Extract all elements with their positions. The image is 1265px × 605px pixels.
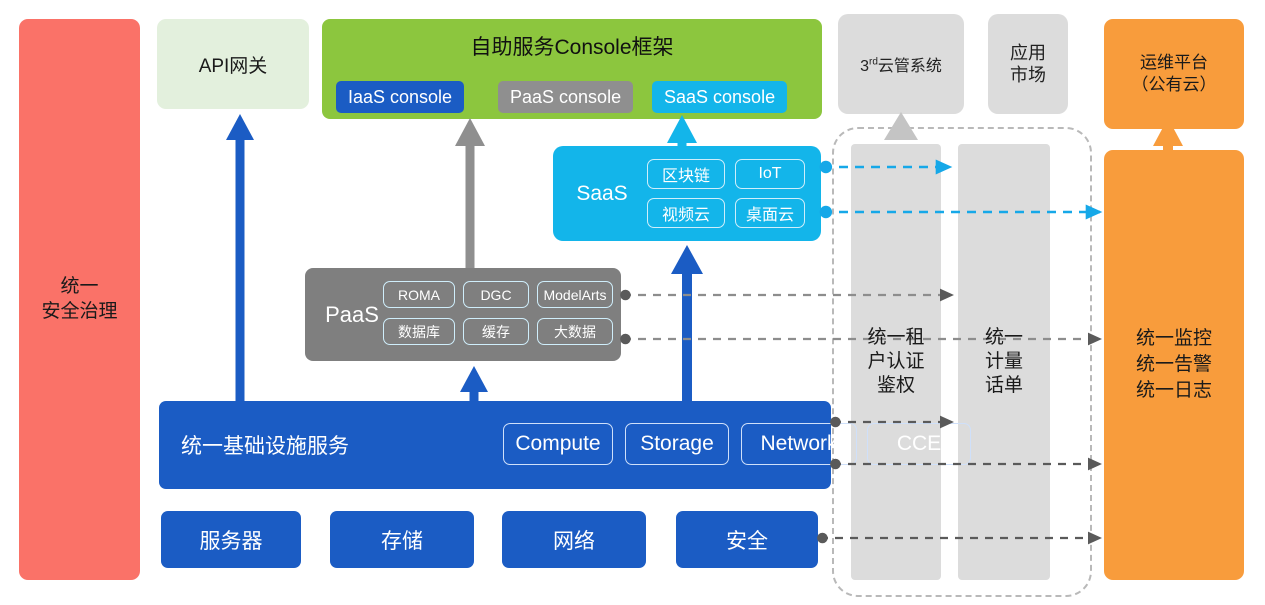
arrow-infra-to-paas	[460, 366, 488, 401]
hardware-box-storage[interactable]: 存储	[330, 511, 474, 568]
infra-item-storage[interactable]: Storage	[625, 423, 729, 465]
saas-block: SaaS 区块链 IoT 视频云 桌面云	[553, 146, 821, 241]
architecture-diagram: 统一 安全治理 API网关 自助服务Console框架 IaaS console…	[0, 0, 1265, 605]
third-party-prefix: 3	[860, 58, 869, 75]
paas-item-cache[interactable]: 缓存	[463, 318, 529, 345]
saas-item-3-label: 桌面云	[746, 201, 794, 225]
ops-platform-box[interactable]: 运维平台 （公有云）	[1104, 19, 1244, 129]
api-gateway-box[interactable]: API网关	[157, 19, 309, 109]
hardware-2-label: 网络	[553, 525, 595, 555]
ops-platform-line-1: 运维平台	[1132, 52, 1217, 74]
unified-security-governance-panel: 统一 安全治理	[19, 19, 140, 580]
infra-item-1-label: Storage	[640, 432, 714, 456]
app-market-line-1: 应用	[1010, 42, 1046, 65]
arrow-saas-to-saas-console	[667, 115, 697, 146]
hardware-3-label: 安全	[726, 525, 768, 555]
billing-line-2: 计量	[985, 351, 1023, 372]
paas-item-bigdata[interactable]: 大数据	[537, 318, 613, 345]
unified-tenant-auth-column[interactable]: 统一租 户认证 鉴权	[851, 144, 941, 580]
infra-item-compute[interactable]: Compute	[503, 423, 613, 465]
paas-item-roma[interactable]: ROMA	[383, 281, 455, 308]
third-party-cloud-management-box[interactable]: 3rd云管系统	[838, 14, 964, 114]
hardware-box-security[interactable]: 安全	[676, 511, 818, 568]
paas-item-1-label: DGC	[480, 287, 511, 303]
iaas-console-label: IaaS console	[348, 87, 452, 108]
api-gateway-label: API网关	[199, 51, 268, 78]
security-line-2: 安全治理	[41, 300, 117, 325]
paas-item-3-label: 数据库	[398, 322, 440, 342]
billing-line-3: 话单	[985, 375, 1023, 396]
hardware-box-network[interactable]: 网络	[502, 511, 646, 568]
third-party-suffix: 云管系统	[878, 58, 942, 75]
self-service-console-framework: 自助服务Console框架 IaaS console PaaS console …	[322, 19, 822, 119]
paas-item-5-label: 大数据	[554, 322, 596, 342]
saas-console-label: SaaS console	[664, 87, 775, 108]
arrow-infra-to-api-gateway	[226, 114, 254, 401]
paas-block: PaaS ROMA DGC ModelArts 数据库 缓存 大数据	[305, 268, 621, 361]
auth-line-1: 统一租	[867, 327, 924, 348]
infra-item-3-label: CCE	[897, 432, 941, 456]
saas-item-0-label: 区块链	[662, 162, 710, 186]
infrastructure-title: 统一基础设施服务	[181, 401, 349, 489]
ops-platform-line-2: （公有云）	[1132, 74, 1217, 96]
infra-item-0-label: Compute	[515, 432, 600, 456]
saas-item-1-label: IoT	[758, 165, 781, 183]
ops-body-line-2: 统一告警	[1136, 352, 1212, 378]
unified-infrastructure-service-bar: 统一基础设施服务 Compute Storage Network CCE	[159, 401, 831, 489]
hardware-box-server[interactable]: 服务器	[161, 511, 301, 568]
ops-body-line-1: 统一监控	[1136, 326, 1212, 352]
ops-body-line-3: 统一日志	[1136, 378, 1212, 404]
paas-label: PaaS	[313, 268, 391, 361]
console-framework-title: 自助服务Console框架	[322, 31, 822, 61]
paas-console-label: PaaS console	[510, 87, 621, 108]
hardware-0-label: 服务器	[200, 525, 263, 555]
paas-item-dgc[interactable]: DGC	[463, 281, 529, 308]
auth-line-2: 户认证	[867, 351, 924, 372]
arrow-paas-to-console	[455, 118, 485, 268]
unified-metering-billing-column[interactable]: 统一 计量 话单	[958, 144, 1050, 580]
paas-item-database[interactable]: 数据库	[383, 318, 455, 345]
saas-item-blockchain[interactable]: 区块链	[647, 159, 725, 189]
paas-item-modelarts[interactable]: ModelArts	[537, 281, 613, 308]
security-line-1: 统一	[41, 275, 117, 300]
arrow-infra-to-saas	[671, 245, 703, 401]
billing-column-text: 统一 计量 话单	[985, 326, 1023, 397]
hardware-1-label: 存储	[381, 525, 423, 555]
saas-item-iot[interactable]: IoT	[735, 159, 805, 189]
ops-monitoring-panel: 统一监控 统一告警 统一日志	[1104, 150, 1244, 580]
paas-item-4-label: 缓存	[482, 322, 510, 342]
saas-item-desktop-cloud[interactable]: 桌面云	[735, 198, 805, 228]
third-party-label: 3rd云管系统	[860, 52, 942, 76]
infra-item-2-label: Network	[760, 432, 837, 456]
infra-item-cce[interactable]: CCE	[867, 423, 971, 465]
app-market-line-2: 市场	[1010, 64, 1046, 87]
iaas-console-chip[interactable]: IaaS console	[336, 81, 464, 113]
saas-label: SaaS	[567, 146, 637, 241]
saas-item-2-label: 视频云	[662, 201, 710, 225]
app-market-box[interactable]: 应用 市场	[988, 14, 1068, 114]
saas-console-chip[interactable]: SaaS console	[652, 81, 787, 113]
console-chip-row: IaaS console PaaS console SaaS console	[322, 81, 822, 113]
paas-console-chip[interactable]: PaaS console	[498, 81, 633, 113]
infra-item-network[interactable]: Network	[741, 423, 857, 465]
third-party-sup: rd	[869, 57, 878, 68]
auth-column-text: 统一租 户认证 鉴权	[867, 326, 924, 397]
paas-item-2-label: ModelArts	[543, 287, 606, 303]
paas-item-0-label: ROMA	[398, 287, 440, 303]
billing-line-1: 统一	[985, 327, 1023, 348]
auth-line-3: 鉴权	[877, 375, 915, 396]
saas-item-video-cloud[interactable]: 视频云	[647, 198, 725, 228]
